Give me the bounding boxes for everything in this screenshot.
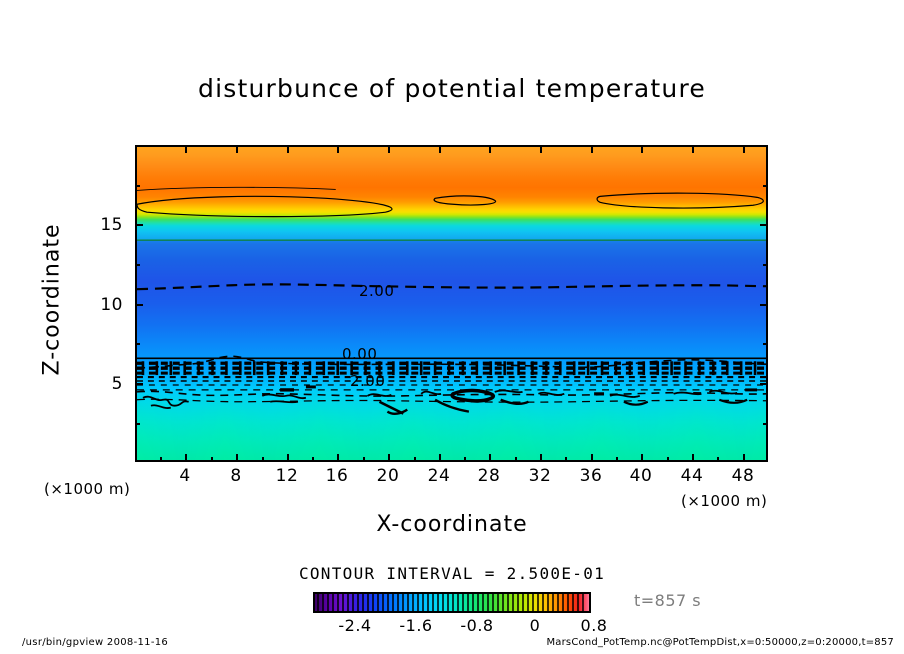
footer-dataset-label: MarsCond_PotTemp.nc@PotTempDist,x=0:5000…: [546, 637, 894, 648]
y-tick-label-5: 5: [75, 374, 123, 394]
y-axis-title: Z-coordinate: [40, 185, 65, 415]
time-label: t=857 s: [634, 591, 701, 610]
y-axis-unit-label: (×1000 m): [44, 480, 130, 498]
x-tick-label-48: 48: [713, 466, 773, 486]
contour-label-2-upper: 2.00: [350, 372, 385, 390]
contour-label-0: 0.00: [342, 345, 377, 363]
colorbar-tick-label-4: 0.8: [564, 616, 624, 635]
filled-contour-field: [137, 147, 766, 460]
y-tick-label-10: 10: [75, 295, 123, 315]
page-title: disturbunce of potential temperature: [0, 74, 904, 103]
contour-plot-area: 0.00 2.00 2.00 -2.00: [135, 145, 768, 462]
y-tick-label-15: 15: [75, 215, 123, 235]
contour-label-2-mid: 2.00: [359, 282, 394, 300]
colorbar: [313, 592, 591, 613]
colorbar-swatches: [314, 593, 590, 612]
colorbar-tick-label-3: 0: [505, 616, 565, 635]
colorbar-tick-label-2: -0.8: [447, 616, 507, 635]
footer-command-label: /usr/bin/gpview 2008-11-16: [22, 637, 168, 648]
colorbar-tick-label-1: -1.6: [386, 616, 446, 635]
contour-interval-label: CONTOUR INTERVAL = 2.500E-01: [0, 564, 904, 583]
x-axis-unit-label: (×1000 m): [681, 492, 767, 510]
colorbar-tick-label-0: -2.4: [325, 616, 385, 635]
x-axis-title: X-coordinate: [0, 512, 904, 537]
figure-canvas: disturbunce of potential temperature: [0, 0, 904, 654]
